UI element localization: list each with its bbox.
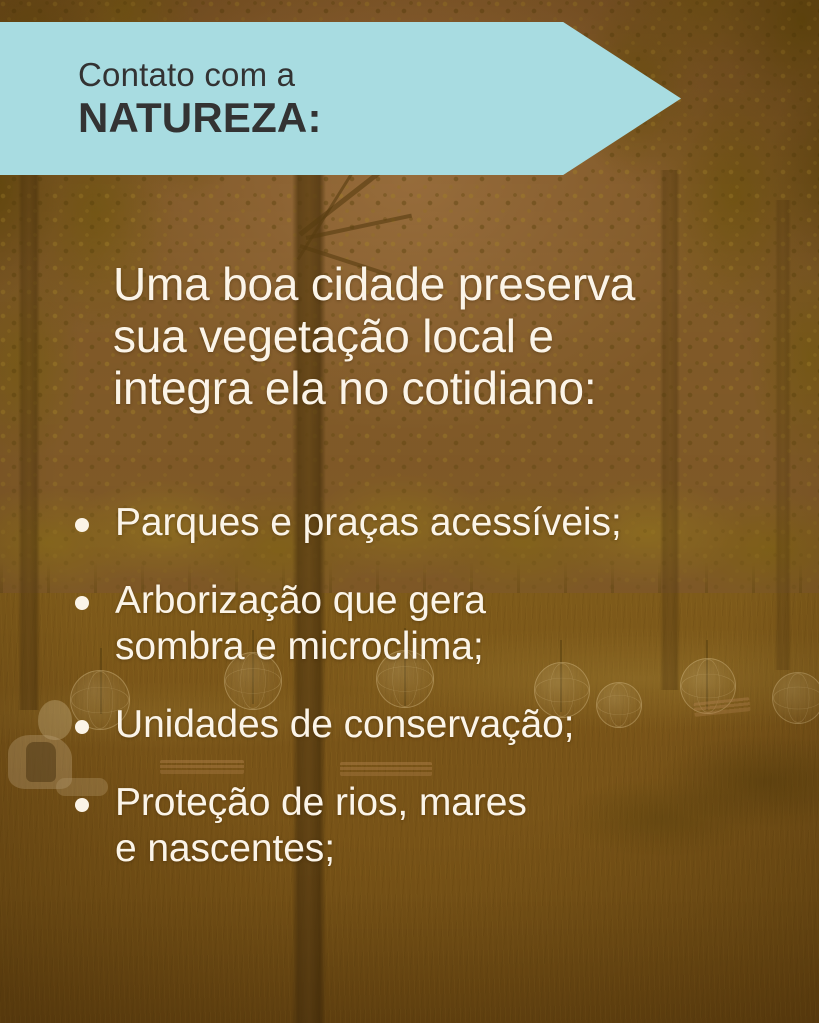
list-item: Parques e praças acessíveis; (0, 500, 819, 546)
lede-line: sua vegetação local e (113, 310, 759, 362)
lede-line: integra ela no cotidiano: (113, 362, 759, 414)
list-item-line: e nascentes; (115, 826, 779, 872)
banner-subtitle: Contato com a (78, 57, 681, 93)
list-item-line: Proteção de rios, mares (115, 780, 779, 826)
main-content: Uma boa cidade preserva sua vegetação lo… (0, 258, 819, 818)
bullet-list: Parques e praças acessíveis; Arborização… (0, 500, 819, 872)
list-item-line: Arborização que gera (115, 578, 779, 624)
lede-line: Uma boa cidade preserva (113, 258, 759, 310)
list-item-line: Unidades de conservação; (115, 702, 779, 748)
lede-paragraph: Uma boa cidade preserva sua vegetação lo… (0, 258, 819, 414)
bullet-dot-icon (75, 518, 89, 532)
banner-title: NATUREZA: (78, 96, 681, 140)
header-banner: Contato com a NATUREZA: (0, 22, 681, 175)
list-item-line: Parques e praças acessíveis; (115, 500, 779, 546)
bullet-dot-icon (75, 720, 89, 734)
photo-credit: Créditos foto: Artyom Panfilov (807, 0, 819, 14)
list-item: Unidades de conservação; (0, 702, 819, 748)
list-item: Arborização que gera sombra e microclima… (0, 578, 819, 670)
infographic-poster: Contato com a NATUREZA: Créditos foto: A… (0, 0, 819, 1023)
bullet-dot-icon (75, 798, 89, 812)
bullet-dot-icon (75, 596, 89, 610)
list-item-line: sombra e microclima; (115, 624, 779, 670)
list-item: Proteção de rios, mares e nascentes; (0, 780, 819, 872)
